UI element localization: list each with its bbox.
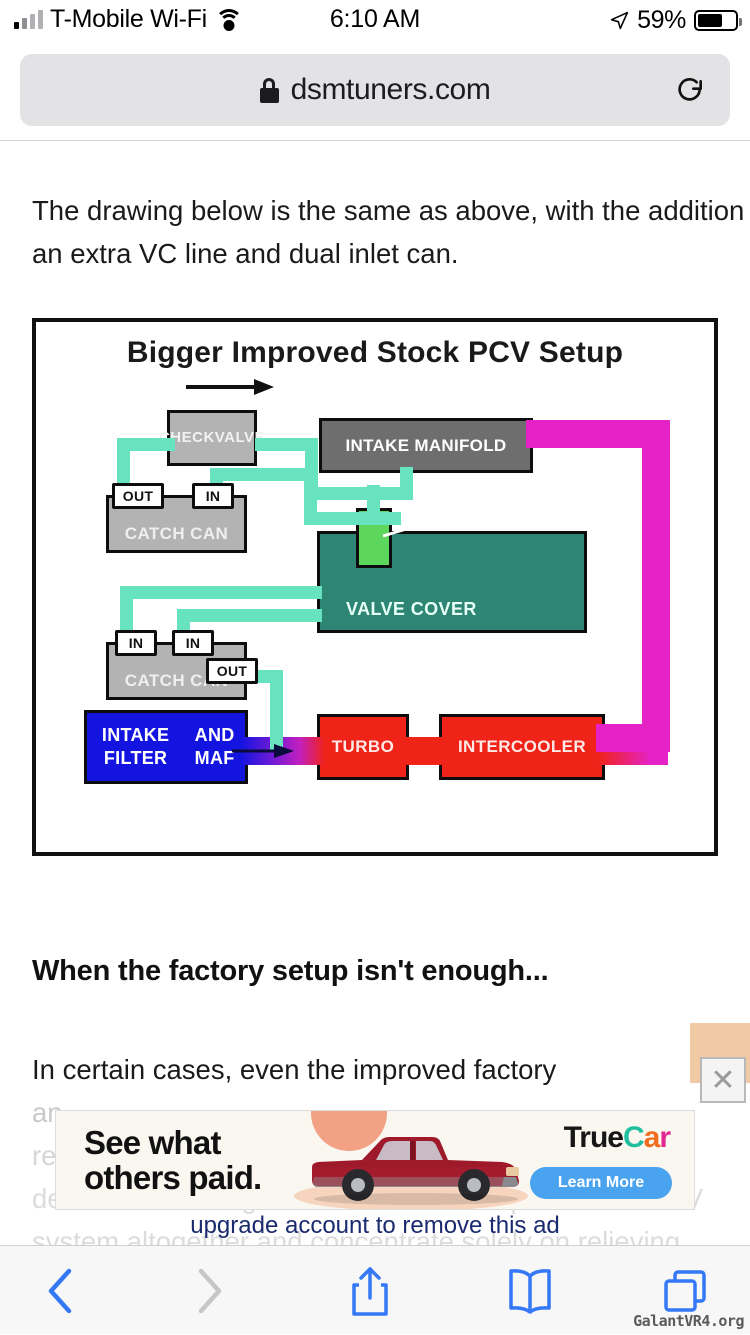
catch-can-top-in-label: IN: [206, 488, 221, 504]
bookmarks-button[interactable]: [475, 1246, 585, 1335]
intake-filter-label-line1: INTAKE FILTER: [87, 724, 184, 770]
pcv-diagram: Bigger Improved Stock PCV Setup: [32, 318, 718, 856]
lock-icon: [260, 78, 279, 103]
ad-headline-line1: See what: [84, 1124, 221, 1161]
truecar-logo-c: C: [623, 1121, 644, 1154]
chevron-right-icon: [193, 1266, 227, 1316]
back-button[interactable]: [0, 1246, 120, 1335]
hose-can2-in1-horz: [120, 586, 322, 599]
truecar-logo-r: r: [659, 1121, 670, 1154]
tabs-icon: [661, 1267, 709, 1315]
pickup-truck-image: [306, 1127, 526, 1205]
intake-manifold-label: INTAKE MANIFOLD: [346, 436, 507, 456]
battery-icon: [694, 10, 738, 31]
catch-can-bottom-out-label: OUT: [217, 663, 247, 679]
turbo-label: TURBO: [332, 737, 394, 757]
close-icon[interactable]: ✕: [700, 1057, 746, 1103]
location-arrow-icon: [610, 11, 629, 30]
intake-flow-arrow-icon: [232, 742, 294, 760]
chevron-left-icon: [43, 1266, 77, 1316]
catch-can-bottom-in2-label: IN: [186, 635, 201, 651]
pcv-valve-label: PCV VALVE: [419, 515, 516, 535]
boost-pipe-bottom: [596, 724, 670, 752]
address-bar-content: dsmtuners.com: [20, 54, 730, 126]
intercooler-box: INTERCOOLER: [439, 714, 605, 780]
upgrade-account-link[interactable]: upgrade account to remove this ad: [0, 1212, 750, 1240]
ad-headline-line2: others paid.: [84, 1159, 261, 1196]
watermark: GalantVR4.org: [633, 1312, 744, 1330]
section-heading: When the factory setup isn't enough...: [0, 955, 750, 988]
reload-icon[interactable]: [674, 74, 706, 106]
status-bar-right: 59%: [610, 6, 738, 35]
book-icon: [505, 1267, 555, 1315]
hose-can2-out-vert: [270, 670, 283, 752]
catch-can-top-out-port: OUT: [112, 483, 164, 509]
intake-manifold-box: INTAKE MANIFOLD: [319, 418, 533, 473]
url-label: dsmtuners.com: [291, 73, 491, 107]
browser-toolbar: dsmtuners.com: [0, 40, 750, 141]
hose-can2-in2-horz: [177, 609, 322, 622]
hose-to-manifold-horz: [305, 487, 413, 500]
catch-can-bottom-in2-port: IN: [172, 630, 214, 656]
turbo-to-intercooler-pipe: [402, 737, 446, 765]
diagram-canvas: CHECK VALVE INTAKE MANIFOLD CATCH CAN OU…: [36, 322, 714, 852]
catch-can-top-in-port: IN: [192, 483, 234, 509]
share-icon: [348, 1265, 392, 1317]
intercooler-label: INTERCOOLER: [458, 737, 586, 757]
check-valve-box: CHECK VALVE: [167, 410, 257, 466]
status-bar: T-Mobile Wi-Fi 6:10 AM 59%: [0, 0, 750, 40]
catch-can-bottom-out-port: OUT: [206, 658, 258, 684]
forward-button[interactable]: [150, 1246, 270, 1335]
turbo-box: TURBO: [317, 714, 409, 780]
body-line-1: In certain cases, even the improved fact…: [32, 1048, 750, 1091]
battery-percent-label: 59%: [637, 6, 686, 35]
catch-can-top-label: CATCH CAN: [125, 524, 228, 544]
hose-can-out-to-checkvalve-horz: [117, 438, 175, 451]
share-button[interactable]: [315, 1246, 425, 1335]
truecar-logo-a: a: [644, 1121, 660, 1154]
flow-arrow-icon: [184, 376, 274, 398]
address-bar[interactable]: dsmtuners.com: [20, 54, 730, 126]
hose-pcv-valve-top: [367, 485, 380, 515]
intake-filter-box: INTAKE FILTER AND MAF: [84, 710, 248, 784]
hose-manifold-port-vert: [400, 467, 413, 495]
ad-headline: See what others paid.: [84, 1125, 261, 1195]
catch-can-bottom-in1-label: IN: [129, 635, 144, 651]
boost-pipe-right: [642, 420, 670, 752]
learn-more-button[interactable]: Learn More: [530, 1167, 672, 1199]
catch-can-bottom-in1-port: IN: [115, 630, 157, 656]
truecar-logo: TrueCar: [564, 1121, 670, 1155]
intro-paragraph: The drawing below is the same as above, …: [0, 189, 750, 275]
ad-banner[interactable]: See what others paid. TrueCar Learn More: [55, 1110, 695, 1210]
valve-cover-label: VALVE COVER: [346, 599, 477, 620]
hose-pcv-feed-vert: [304, 468, 317, 518]
hose-can-in-horz: [210, 468, 316, 481]
catch-can-top-out-label: OUT: [123, 488, 153, 504]
page-content: The drawing below is the same as above, …: [0, 141, 750, 1245]
truecar-logo-true: True: [564, 1121, 623, 1154]
